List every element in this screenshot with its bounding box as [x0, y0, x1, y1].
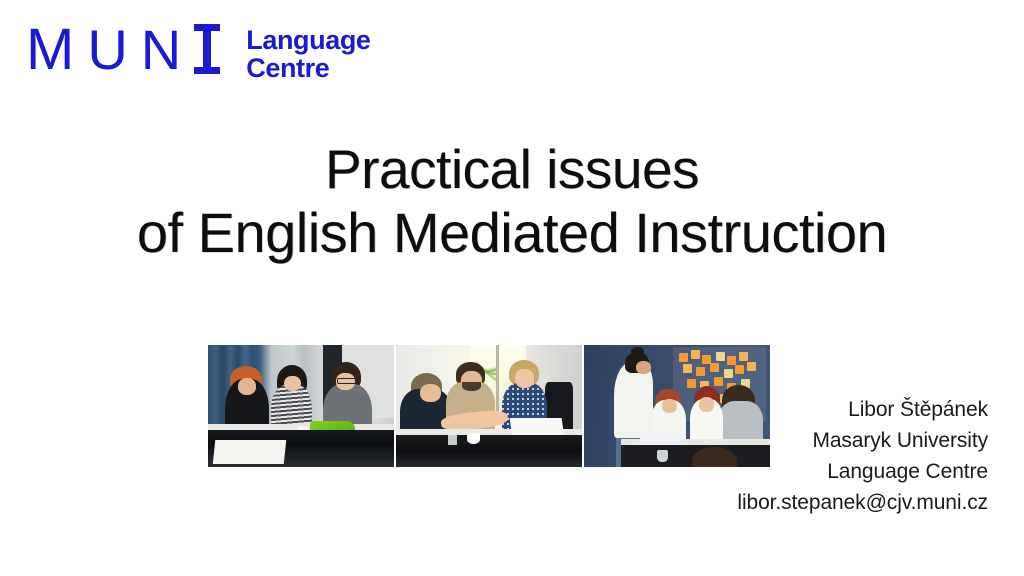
author-email[interactable]: libor.stepanek@cjv.muni.cz — [568, 487, 988, 518]
logo-text-block: Language Centre — [246, 24, 370, 82]
author-department: Language Centre — [568, 456, 988, 487]
muni-letter-u: U — [87, 24, 127, 76]
photo-3-person-1-face — [636, 361, 651, 374]
photo-1-person-3-glasses — [337, 378, 356, 384]
title-line-2: of English Mediated Instruction — [0, 201, 1024, 264]
logo-text-language: Language — [246, 26, 370, 54]
photo-2-window-frame — [496, 345, 499, 416]
author-block: Libor Štěpánek Masaryk University Langua… — [568, 394, 988, 518]
collage-photo-2 — [396, 345, 582, 467]
author-institution: Masaryk University — [568, 425, 988, 456]
muni-language-centre-logo: M U N Language Centre — [26, 24, 371, 82]
muni-letter-m: M — [26, 24, 74, 76]
photo-2-table — [396, 435, 582, 467]
photo-2-person-3-face — [515, 369, 534, 387]
logo-text-centre: Centre — [246, 54, 370, 82]
photo-1-person-2-face — [284, 376, 301, 392]
photo-1-papers — [212, 440, 285, 464]
author-name: Libor Štěpánek — [568, 394, 988, 425]
muni-wordmark: M U N — [26, 24, 220, 76]
photo-2-glass — [448, 433, 457, 445]
collage-photo-1 — [208, 345, 394, 467]
photo-2-person-1-face — [420, 384, 440, 402]
photo-2-cup — [467, 433, 480, 444]
title-line-1: Practical issues — [0, 138, 1024, 201]
muni-letter-i — [194, 24, 220, 74]
slide-title: Practical issues of English Mediated Ins… — [0, 138, 1024, 264]
muni-letter-n: N — [141, 24, 181, 76]
photo-1-person-1-face — [238, 378, 257, 395]
muni-i-bottom-serif — [194, 67, 220, 74]
